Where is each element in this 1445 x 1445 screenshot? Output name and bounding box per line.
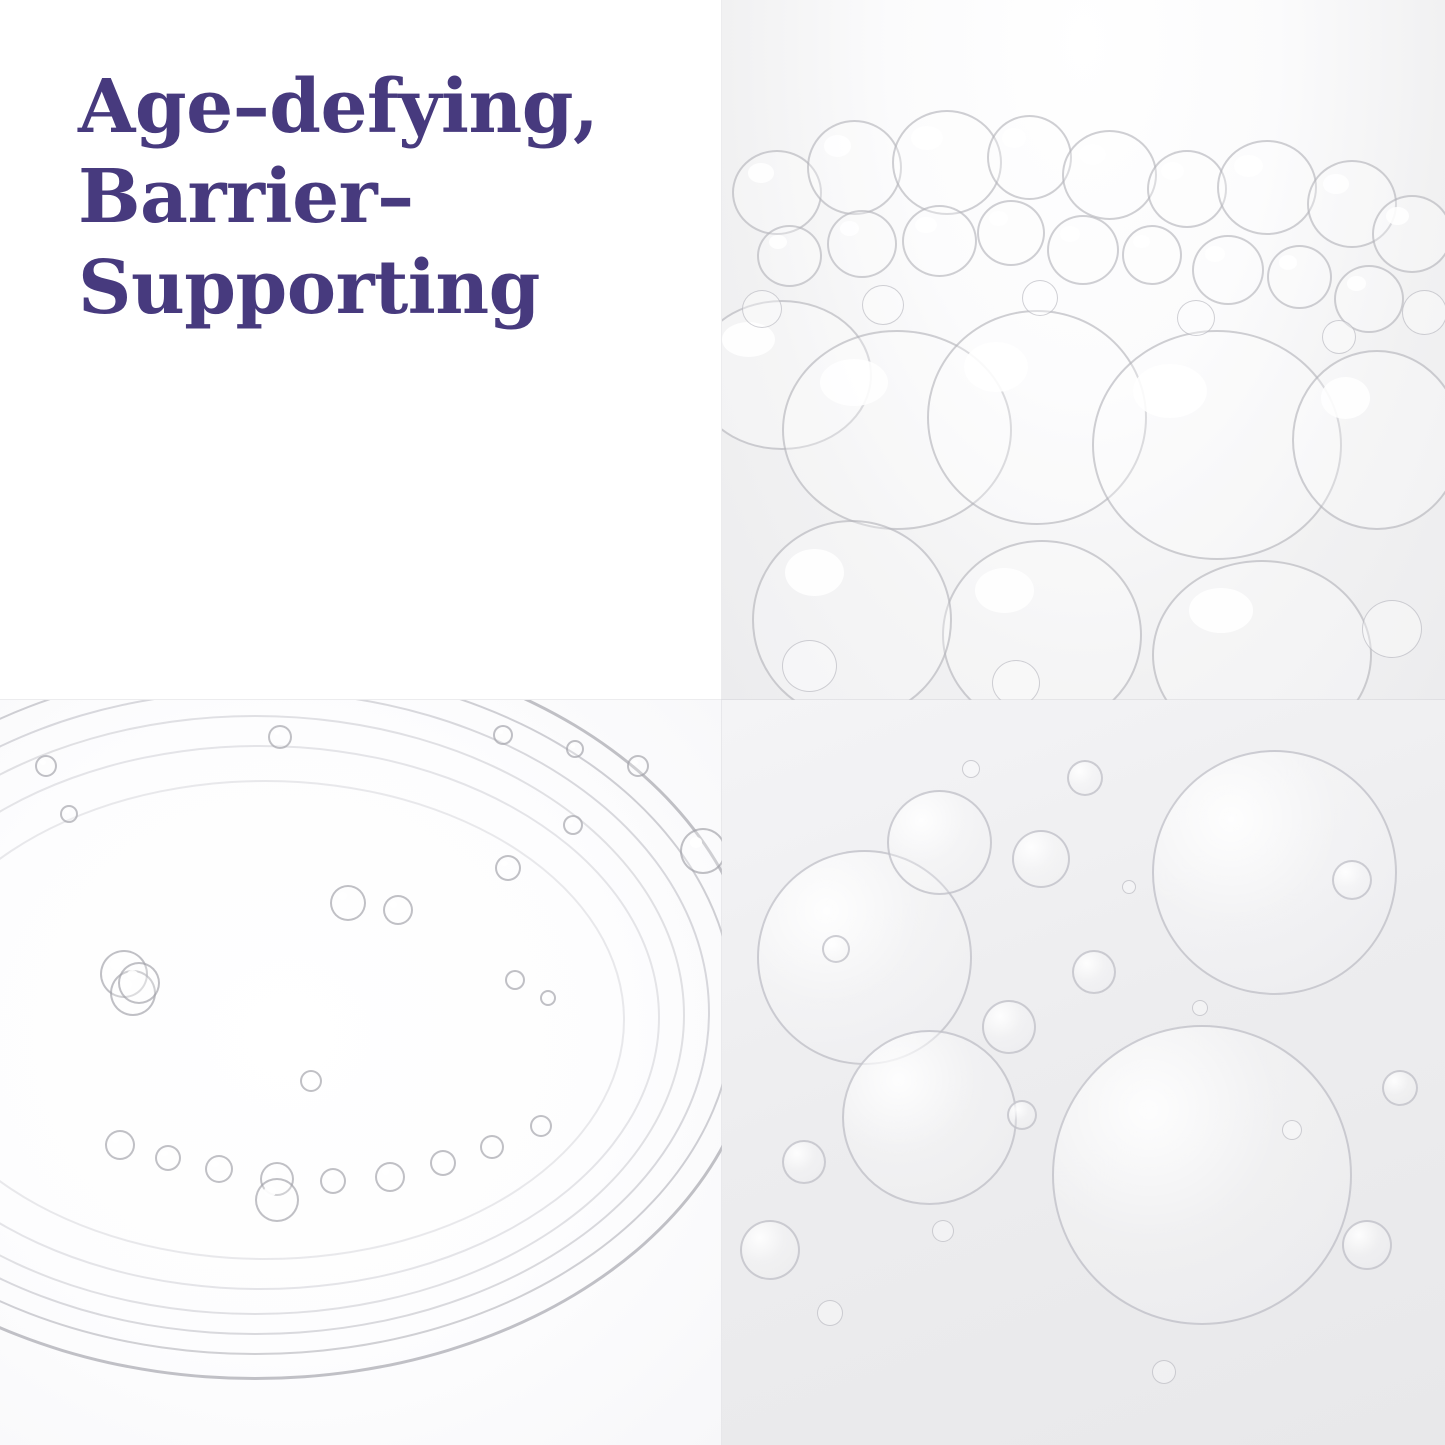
bubble-decor [992, 660, 1040, 700]
bubble-decor [255, 1178, 299, 1222]
bubble-decor [105, 1130, 135, 1160]
bubble-decor [827, 210, 897, 278]
droplet-decor [1012, 830, 1070, 888]
bubble-decor [627, 755, 649, 777]
bubble-decor [530, 1115, 552, 1137]
droplet-decor [1067, 760, 1103, 796]
bubble-decor [330, 885, 366, 921]
adenosine-photo-panel: Adenosine boosts collagen synthesis [722, 0, 1445, 700]
bubble-decor [566, 740, 584, 758]
droplet-decor [1072, 950, 1116, 994]
bubble-decor [563, 815, 583, 835]
droplet-decor [842, 1030, 1017, 1205]
droplet-decor [1122, 880, 1136, 894]
bubble-decor [987, 115, 1072, 200]
droplet-decor [740, 1220, 800, 1280]
droplet-decor [887, 790, 992, 895]
bubble-decor [1372, 195, 1445, 273]
page-title: Age–defying, Barrier– Supporting [78, 62, 678, 333]
headline-panel: Age–defying, Barrier– Supporting [0, 0, 722, 700]
bubble-decor [757, 225, 822, 287]
droplet-decor [1382, 1070, 1418, 1106]
droplet-decor [1282, 1120, 1302, 1140]
bubble-decor [1022, 280, 1058, 316]
bubble-decor [1177, 300, 1215, 336]
bubble-decor [862, 285, 904, 325]
bubble-decor [1402, 290, 1445, 335]
bubble-decor [268, 725, 292, 749]
bubble-decor [430, 1150, 456, 1176]
droplet-decor [1052, 1025, 1352, 1325]
bubble-decor [383, 895, 413, 925]
droplet-decor [1192, 1000, 1208, 1016]
droplet-decor [1342, 1220, 1392, 1270]
bubble-decor [155, 1145, 181, 1171]
bubble-decor [505, 970, 525, 990]
bubble-decor [1047, 215, 1119, 285]
bubble-decor [375, 1162, 405, 1192]
bubble-decor [977, 200, 1045, 266]
bubble-decor [1217, 140, 1317, 235]
bubble-decor [807, 120, 902, 215]
bubble-decor [680, 828, 722, 874]
bubble-decor [1362, 600, 1422, 658]
droplet-decor [817, 1300, 843, 1326]
bubble-decor [742, 290, 782, 328]
bubble-decor [902, 205, 977, 277]
bubble-decor [60, 805, 78, 823]
droplet-decor [932, 1220, 954, 1242]
product-feature-collage: Age–defying, Barrier– Supporting [0, 0, 1445, 1445]
droplet-decor [1332, 860, 1372, 900]
droplet-decor [822, 935, 850, 963]
bubble-decor [205, 1155, 233, 1183]
bubble-decor [495, 855, 521, 881]
bubble-decor [480, 1135, 504, 1159]
peptide-photo-panel: Peptide Complex visibly plumps, firms an… [722, 700, 1445, 1445]
panel-divider-horizontal [0, 699, 1445, 700]
droplet-decor [782, 1140, 826, 1184]
droplet-decor [1007, 1100, 1037, 1130]
bubble-decor [1147, 150, 1227, 228]
droplet-decor [1152, 1360, 1176, 1384]
droplet-decor [982, 1000, 1036, 1054]
bubble-decor [1267, 245, 1332, 309]
bubble-decor [1192, 235, 1264, 305]
droplet-decor [962, 760, 980, 778]
bubble-decor [1322, 320, 1356, 354]
panel-divider-vertical [721, 0, 722, 1445]
bubble-decor [1062, 130, 1157, 220]
bubble-decor [782, 640, 837, 692]
bubble-decor [540, 990, 556, 1006]
elastin-photo-panel: Hydrolyzed Elastin locks in moisture and… [0, 700, 722, 1445]
bubble-decor [493, 725, 513, 745]
bubble-decor [300, 1070, 322, 1092]
bubble-decor [320, 1168, 346, 1194]
bubble-decor [1122, 225, 1182, 285]
bubble-decor [35, 755, 57, 777]
bubble-decor [892, 110, 1002, 215]
bubble-decor [118, 962, 160, 1004]
